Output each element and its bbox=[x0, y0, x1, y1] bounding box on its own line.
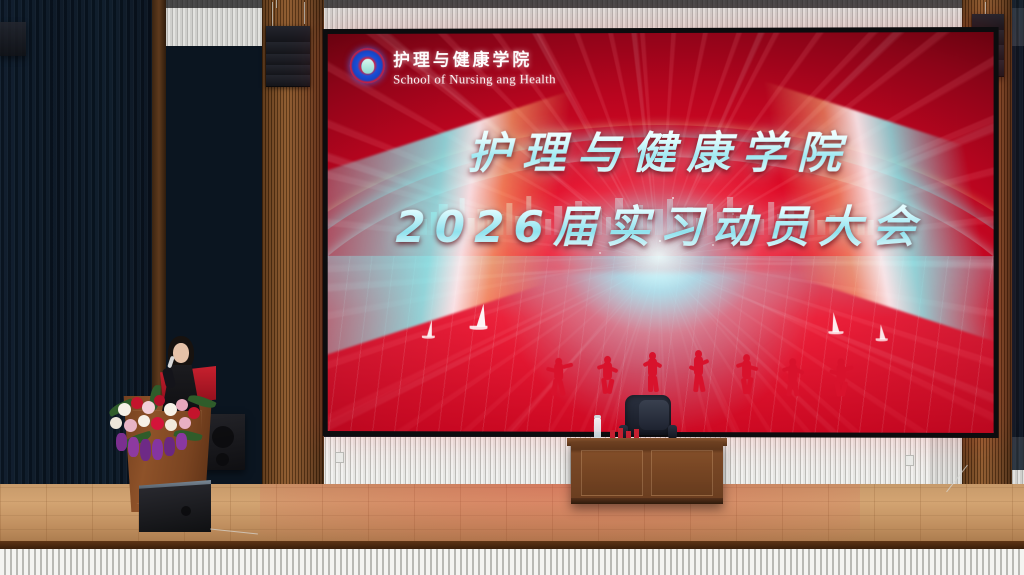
stage-floor-red-glow bbox=[260, 484, 860, 544]
floral-arrangement bbox=[104, 381, 222, 473]
running-figure-silhouette bbox=[546, 352, 572, 396]
stage-monitor-speaker bbox=[139, 484, 211, 532]
chair-cushion bbox=[639, 400, 669, 430]
presenter-face bbox=[173, 343, 189, 363]
sailboat-silhouette bbox=[427, 320, 435, 339]
sparkle-particle bbox=[699, 221, 702, 224]
sparkle-particle bbox=[619, 229, 621, 231]
running-figure-silhouette bbox=[642, 348, 662, 392]
sailboat-silhouette bbox=[879, 325, 887, 342]
stage-front-ventilation-grille bbox=[0, 549, 1024, 575]
header-english: School of Nursing ang Health bbox=[393, 71, 556, 87]
hanging-line-array-speaker-left bbox=[266, 26, 310, 86]
speaker-suspension-wire bbox=[276, 0, 277, 8]
running-figure-silhouette bbox=[736, 350, 758, 394]
led-backdrop-screen: 护理与健康学院 School of Nursing ang Health 护理与… bbox=[323, 27, 999, 438]
running-figure-silhouette bbox=[782, 354, 804, 396]
sailboat-silhouette bbox=[833, 313, 844, 335]
wall-outlet[interactable] bbox=[335, 452, 344, 463]
speaker-suspension-wire bbox=[985, 2, 986, 14]
water-bottle[interactable] bbox=[594, 418, 601, 440]
sailboat-silhouette bbox=[476, 304, 487, 330]
stage-edge-trim bbox=[0, 541, 1024, 549]
running-figure-silhouette bbox=[596, 352, 618, 394]
speaker-suspension-wire bbox=[304, 2, 305, 24]
nursing-health-college-emblem-icon bbox=[350, 48, 386, 84]
emblem-inner-glyph bbox=[361, 58, 374, 73]
screen-header-text: 护理与健康学院 School of Nursing ang Health bbox=[393, 45, 556, 87]
wall-outlet[interactable] bbox=[905, 455, 914, 466]
auditorium-stage-photo: 护理与健康学院 School of Nursing ang Health 护理与… bbox=[0, 0, 1024, 575]
central-light-burst bbox=[509, 141, 809, 372]
sparkle-particle bbox=[732, 213, 734, 215]
wall-mounted-speaker-far-left bbox=[0, 22, 26, 56]
running-figure-silhouette bbox=[689, 346, 709, 392]
header-chinese: 护理与健康学院 bbox=[393, 45, 556, 70]
running-figure-silhouette bbox=[829, 354, 853, 396]
speaker-suspension-wire bbox=[272, 2, 273, 28]
conference-desk[interactable] bbox=[571, 442, 723, 504]
sparkle-particle bbox=[639, 209, 642, 212]
conference-desk-base bbox=[571, 498, 723, 504]
chair-armrest-right bbox=[668, 425, 677, 439]
